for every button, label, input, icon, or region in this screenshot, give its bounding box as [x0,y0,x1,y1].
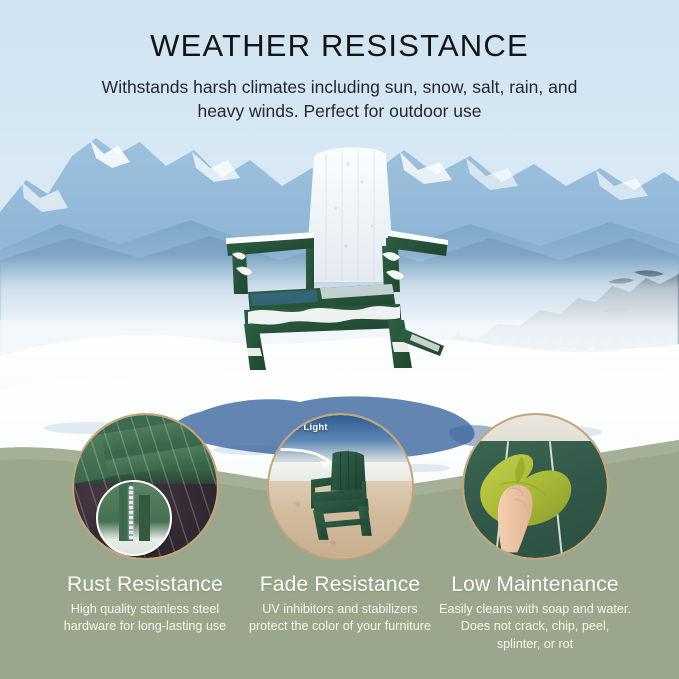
feature-description: High quality stainless steel hardware fo… [48,601,243,636]
page-title: WEATHER RESISTANCE [0,0,679,63]
feature-image-rust-resistance [72,413,219,560]
hand-image [492,472,541,555]
infographic-canvas: WEATHER RESISTANCE Withstands harsh clim… [0,0,679,679]
feature-fade-resistance[interactable]: UV Light [227,413,453,636]
header-block: WEATHER RESISTANCE Withstands harsh clim… [0,0,679,124]
uv-light-label: UV Light [287,422,328,433]
feature-low-maintenance[interactable]: Low Maintenance Easily cleans with soap … [422,413,648,653]
stainless-chain-icon [129,486,133,539]
feature-image-fade-resistance: UV Light [267,413,414,560]
feature-title: Rust Resistance [32,573,258,596]
magnifier-inset [96,480,172,556]
page-subtitle: Withstands harsh climates including sun,… [90,75,590,125]
feature-description: UV inhibitors and stabilizers protect th… [243,601,438,636]
feature-title: Low Maintenance [422,573,648,596]
hardware-post [139,495,150,541]
feature-description: Easily cleans with soap and water. Does … [438,601,633,653]
uv-arrow-icon [277,439,351,470]
feature-image-low-maintenance [462,413,609,560]
feature-title: Fade Resistance [227,573,453,596]
feature-rust-resistance[interactable]: Rust Resistance High quality stainless s… [32,413,258,636]
